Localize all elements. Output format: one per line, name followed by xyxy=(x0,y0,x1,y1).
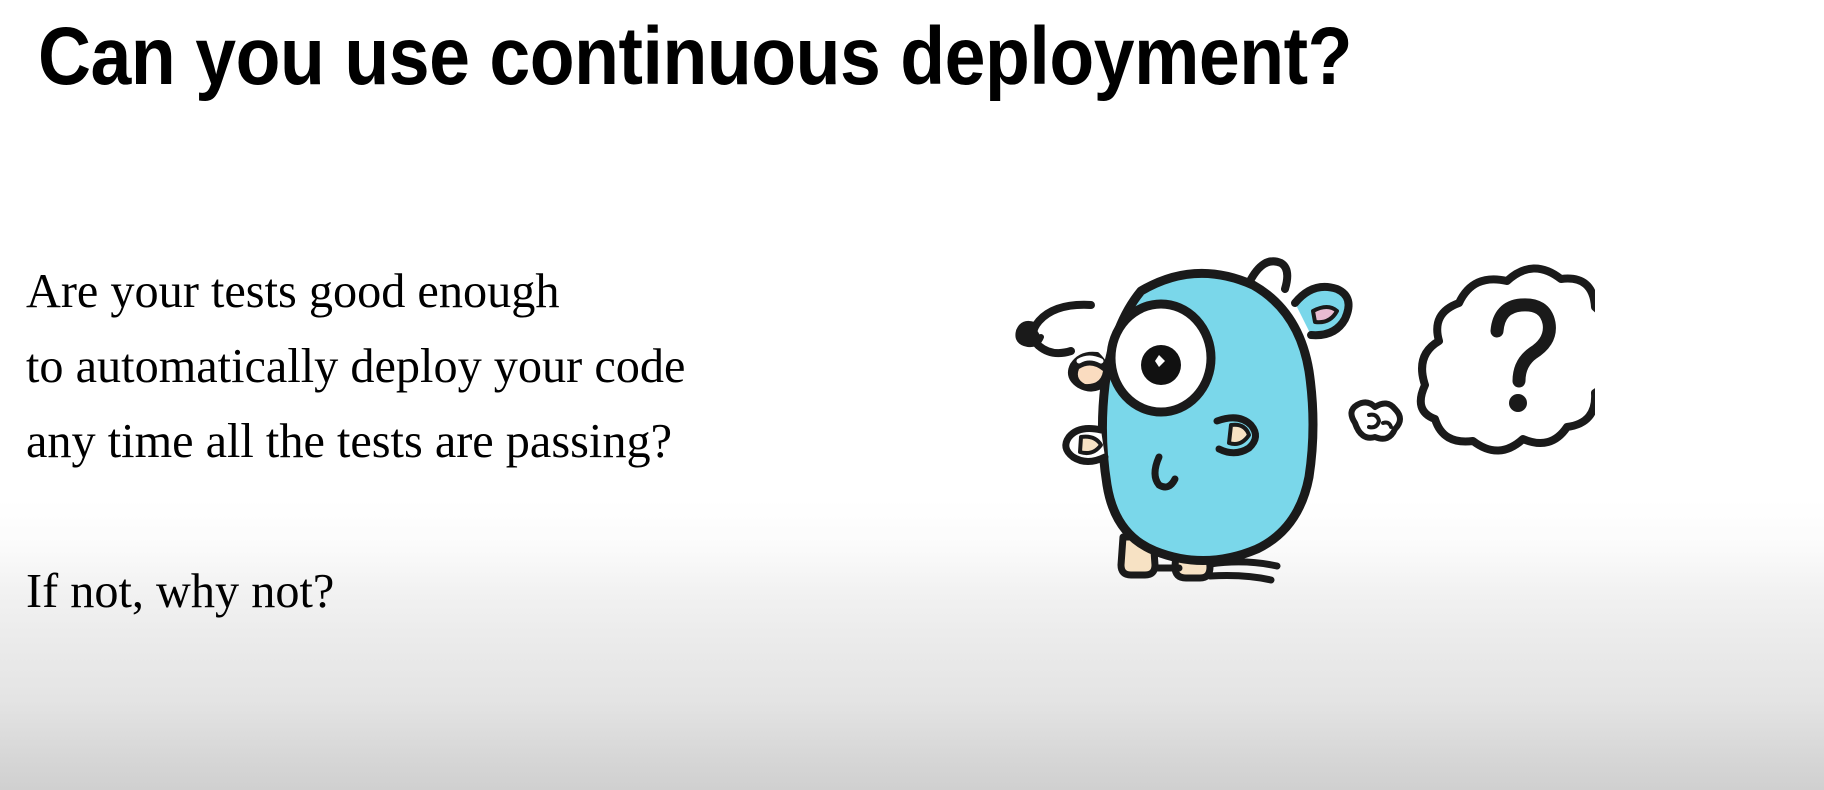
slide-body: Are your tests good enough to automatica… xyxy=(26,253,926,628)
body-spacer xyxy=(26,478,926,553)
body-line-4: If not, why not? xyxy=(26,553,913,628)
thought-bubble-icon xyxy=(1421,268,1595,450)
page-title: Can you use continuous deployment? xyxy=(38,14,1352,100)
body-line-2: to automatically deploy your code xyxy=(26,328,913,403)
gopher-illustration xyxy=(995,185,1595,605)
thought-puff-small-icon xyxy=(1351,402,1400,438)
body-line-3: any time all the tests are passing? xyxy=(26,403,913,478)
body-line-1: Are your tests good enough xyxy=(26,253,913,328)
gopher-thinking-icon xyxy=(995,185,1595,605)
slide-canvas: Can you use continuous deployment? Are y… xyxy=(0,0,1824,790)
